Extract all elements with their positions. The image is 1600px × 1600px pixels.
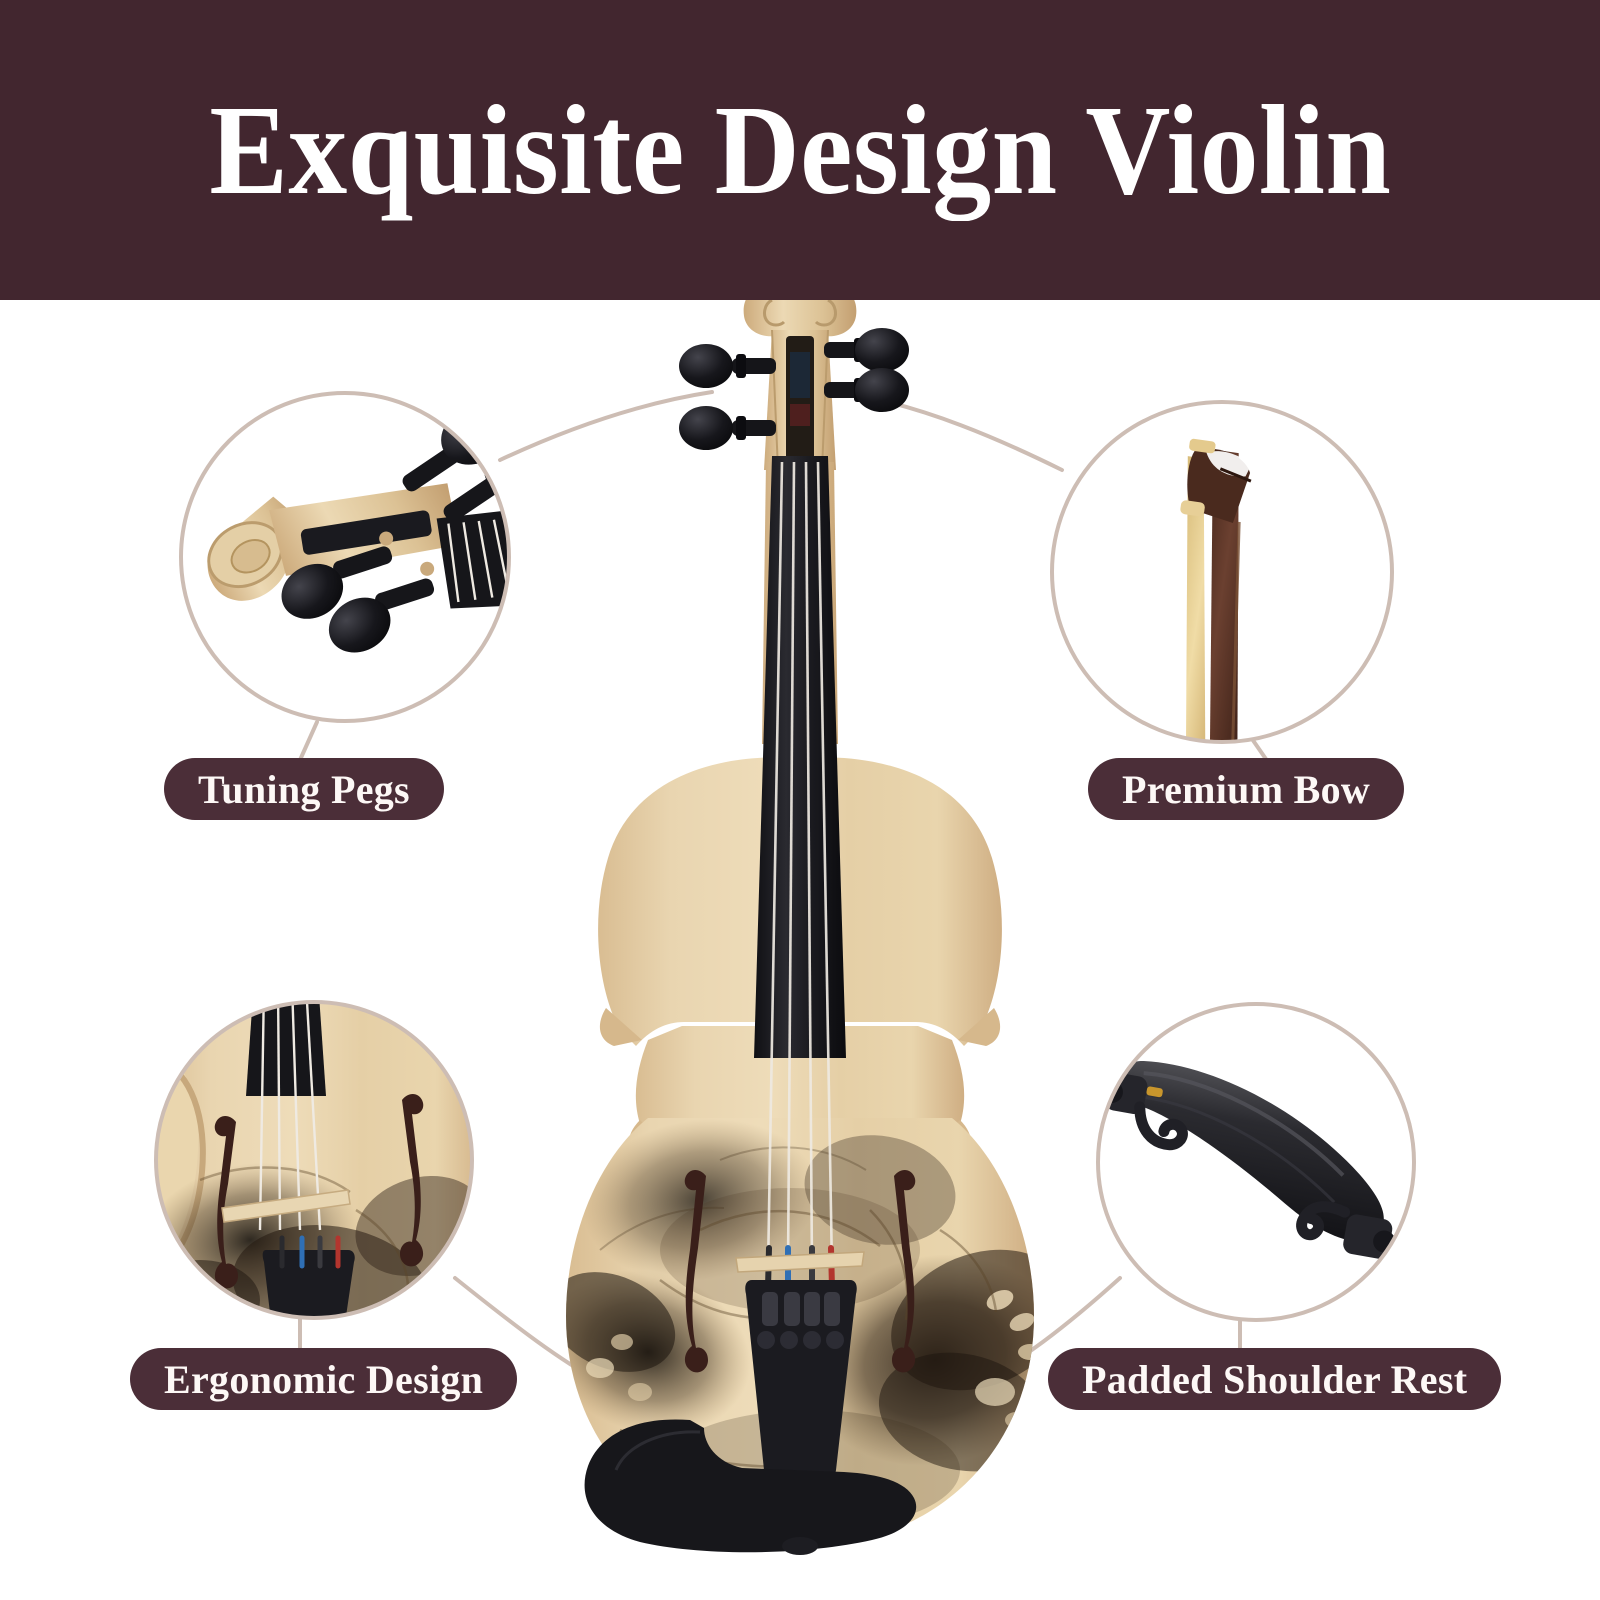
label-pill-ergonomic-design[interactable]: Ergonomic Design — [130, 1348, 517, 1410]
header-band: Exquisite Design Violin — [0, 0, 1600, 300]
callout-circle-tuning-pegs[interactable] — [181, 373, 608, 732]
stem-tuning-pegs — [300, 722, 317, 760]
label-pill-premium-bow[interactable]: Premium Bow — [1088, 758, 1404, 820]
label-pill-tuning-pegs[interactable]: Tuning Pegs — [164, 758, 444, 820]
connector-premium-bow — [880, 400, 1062, 470]
label-pill-padded-shoulder-rest[interactable]: Padded Shoulder Rest — [1048, 1348, 1501, 1410]
callout-circle-shoulder-rest[interactable] — [1081, 1004, 1419, 1320]
callout-circle-premium-bow[interactable] — [1052, 402, 1392, 794]
infographic-canvas: Exquisite Design Violin Tuning Pegs Prem… — [0, 0, 1600, 1600]
page-title: Exquisite Design Violin — [209, 86, 1391, 214]
callout-circle-ergonomic-design[interactable] — [128, 980, 497, 1359]
